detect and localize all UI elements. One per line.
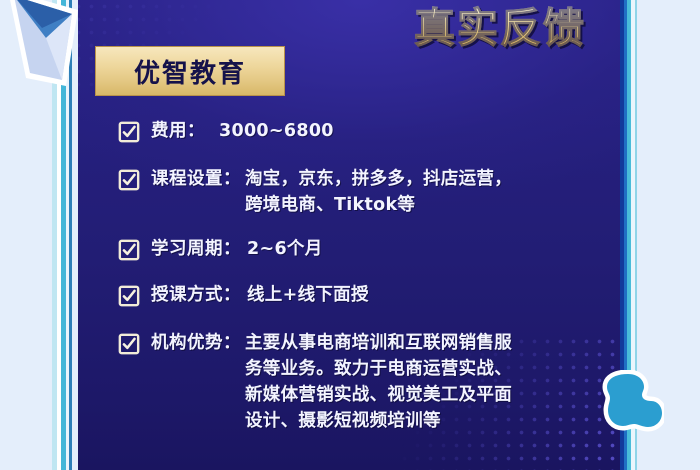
poster-canvas: 真实反馈 优智教育 费用： 3000~6800 [0,0,700,470]
list-item: 机构优势： 主要从事电商培训和互联网销售服务等业务。致力于电商运营实战、新媒体营… [118,330,563,434]
list-item-value: 线上+线下面授 [247,282,369,308]
left-border-decoration [0,0,78,470]
list-item-value: 2~6个月 [247,236,323,262]
page-title: 真实反馈 [366,2,634,54]
paper-plane-icon [6,0,86,94]
checkbox-checked-icon [118,121,140,143]
brand-badge-label: 优智教育 [134,53,246,90]
list-item-label: 机构优势： [151,330,241,356]
checkbox-checked-icon [118,285,140,307]
list-item-label: 费用： [151,118,205,144]
list-item-label: 授课方式： [151,282,241,308]
checkbox-checked-icon [118,169,140,191]
list-item: 授课方式： 线上+线下面授 [118,282,563,308]
list-item-label: 学习周期： [151,236,241,262]
brand-badge: 优智教育 [95,46,285,96]
list-item-label: 课程设置： [151,166,241,192]
checkbox-checked-icon [118,333,140,355]
list-item: 课程设置： 淘宝，京东，拼多多，抖店运营，跨境电商、Tiktok等 [118,166,563,218]
checkbox-checked-icon [118,239,140,261]
list-item-value: 淘宝，京东，拼多多，抖店运营，跨境电商、Tiktok等 [245,166,525,218]
list-item-value: 3000~6800 [219,118,334,144]
puzzle-piece-icon [598,370,664,432]
feature-list: 费用： 3000~6800 课程设置： 淘宝，京东，拼多多，抖店运营，跨境电商、… [118,118,563,434]
list-item: 学习周期： 2~6个月 [118,236,563,262]
list-item-value: 主要从事电商培训和互联网销售服务等业务。致力于电商运营实战、新媒体营销实战、视觉… [245,330,527,434]
right-border-decoration [620,0,700,470]
list-item: 费用： 3000~6800 [118,118,563,144]
